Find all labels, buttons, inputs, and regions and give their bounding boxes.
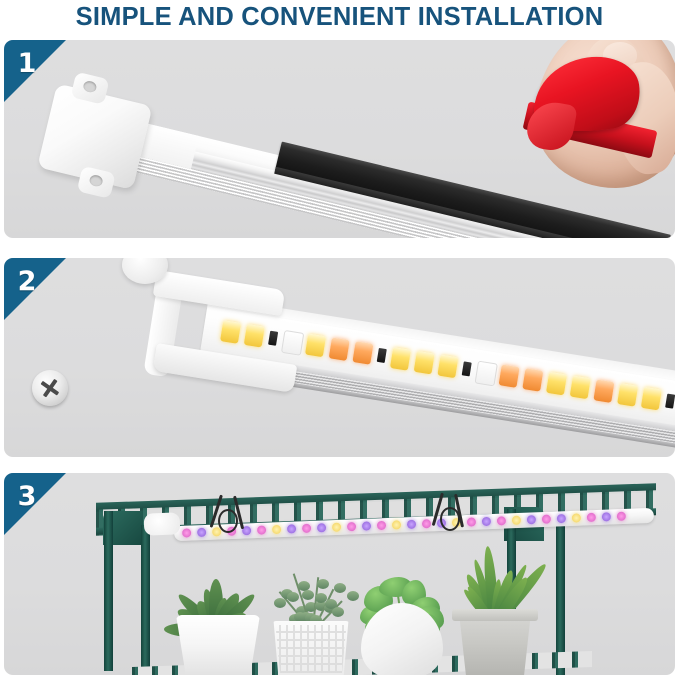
grow-led bbox=[317, 523, 326, 532]
concrete-pot bbox=[457, 615, 533, 675]
resistor bbox=[377, 348, 387, 363]
leaf bbox=[334, 583, 346, 593]
potted-plant-agave bbox=[172, 585, 264, 675]
led-chip bbox=[499, 364, 520, 388]
led-chip bbox=[522, 368, 543, 392]
installation-infographic: SIMPLE AND CONVENIENT INSTALLATION bbox=[0, 0, 679, 675]
led-chip bbox=[546, 372, 567, 396]
white-mounting-bracket bbox=[154, 280, 284, 398]
step-3-illustration bbox=[4, 473, 675, 675]
step-panel-3: 3 Use Zip Ties on plant shelf bbox=[4, 473, 675, 675]
resistor bbox=[462, 361, 472, 376]
white-pot bbox=[176, 615, 260, 675]
grow-bar-end-cap bbox=[144, 512, 181, 535]
grow-led bbox=[527, 515, 536, 524]
led-chip bbox=[352, 341, 373, 365]
grow-led bbox=[602, 512, 611, 521]
led-chip bbox=[641, 387, 662, 411]
grow-led bbox=[512, 516, 521, 525]
grow-led bbox=[482, 517, 491, 526]
led-chip bbox=[570, 376, 591, 400]
shelf-post bbox=[104, 511, 113, 671]
leaf bbox=[287, 592, 299, 602]
led-chip bbox=[414, 351, 435, 375]
led-chip bbox=[390, 347, 411, 371]
step-panel-1: 1 Use Strong Double-sided Tapes bbox=[4, 40, 675, 238]
grow-led bbox=[197, 528, 206, 537]
led-chip bbox=[329, 337, 350, 361]
grow-led bbox=[542, 514, 551, 523]
resistor bbox=[665, 394, 675, 409]
led-chip bbox=[437, 355, 458, 379]
step-2-illustration bbox=[4, 258, 675, 457]
step-badge-3: 3 bbox=[4, 473, 66, 535]
shelf-post bbox=[141, 525, 150, 675]
grow-led bbox=[617, 512, 626, 521]
step-panel-2: 2 Use Screws on Wooden Place or anywhere… bbox=[4, 258, 675, 457]
grow-led bbox=[407, 520, 416, 529]
grow-led bbox=[272, 525, 281, 534]
potted-plant-sansevieria bbox=[452, 591, 538, 675]
bracket-bottom-arm bbox=[153, 343, 298, 393]
step-number: 1 bbox=[13, 43, 41, 83]
step-badge-2: 2 bbox=[4, 258, 66, 320]
grow-led bbox=[467, 517, 476, 526]
grow-led bbox=[422, 519, 431, 528]
led-chip bbox=[617, 383, 638, 407]
grow-led bbox=[182, 528, 191, 537]
grow-led bbox=[362, 521, 371, 530]
led-chip bbox=[281, 330, 304, 356]
step-number: 2 bbox=[13, 261, 41, 301]
grow-led bbox=[347, 522, 356, 531]
grow-led bbox=[587, 513, 596, 522]
zip-tie-loop bbox=[440, 507, 460, 531]
grow-led bbox=[392, 520, 401, 529]
grow-led bbox=[377, 521, 386, 530]
leaf bbox=[274, 598, 286, 608]
led-chip bbox=[593, 379, 614, 403]
pot-rim bbox=[452, 609, 538, 621]
page-title: SIMPLE AND CONVENIENT INSTALLATION bbox=[0, 0, 679, 34]
grow-led bbox=[572, 513, 581, 522]
grow-led bbox=[557, 514, 566, 523]
led-chip bbox=[305, 334, 326, 358]
potted-plant-pothos bbox=[356, 595, 448, 675]
red-release-liner bbox=[524, 58, 644, 178]
led-chip bbox=[475, 361, 498, 387]
grow-led bbox=[497, 516, 506, 525]
pot-texture bbox=[274, 625, 348, 673]
step-number: 3 bbox=[13, 476, 41, 516]
grow-led bbox=[257, 525, 266, 534]
grow-led bbox=[302, 524, 311, 533]
phillips-screw bbox=[32, 370, 68, 406]
potted-plant-eucalyptus bbox=[270, 601, 352, 675]
grow-led bbox=[287, 524, 296, 533]
leaf bbox=[317, 579, 329, 589]
grow-led bbox=[332, 523, 341, 532]
step-badge-1: 1 bbox=[4, 40, 66, 102]
step-1-illustration bbox=[4, 40, 675, 238]
zip-tie-loop bbox=[218, 509, 238, 533]
leaf bbox=[302, 590, 314, 600]
